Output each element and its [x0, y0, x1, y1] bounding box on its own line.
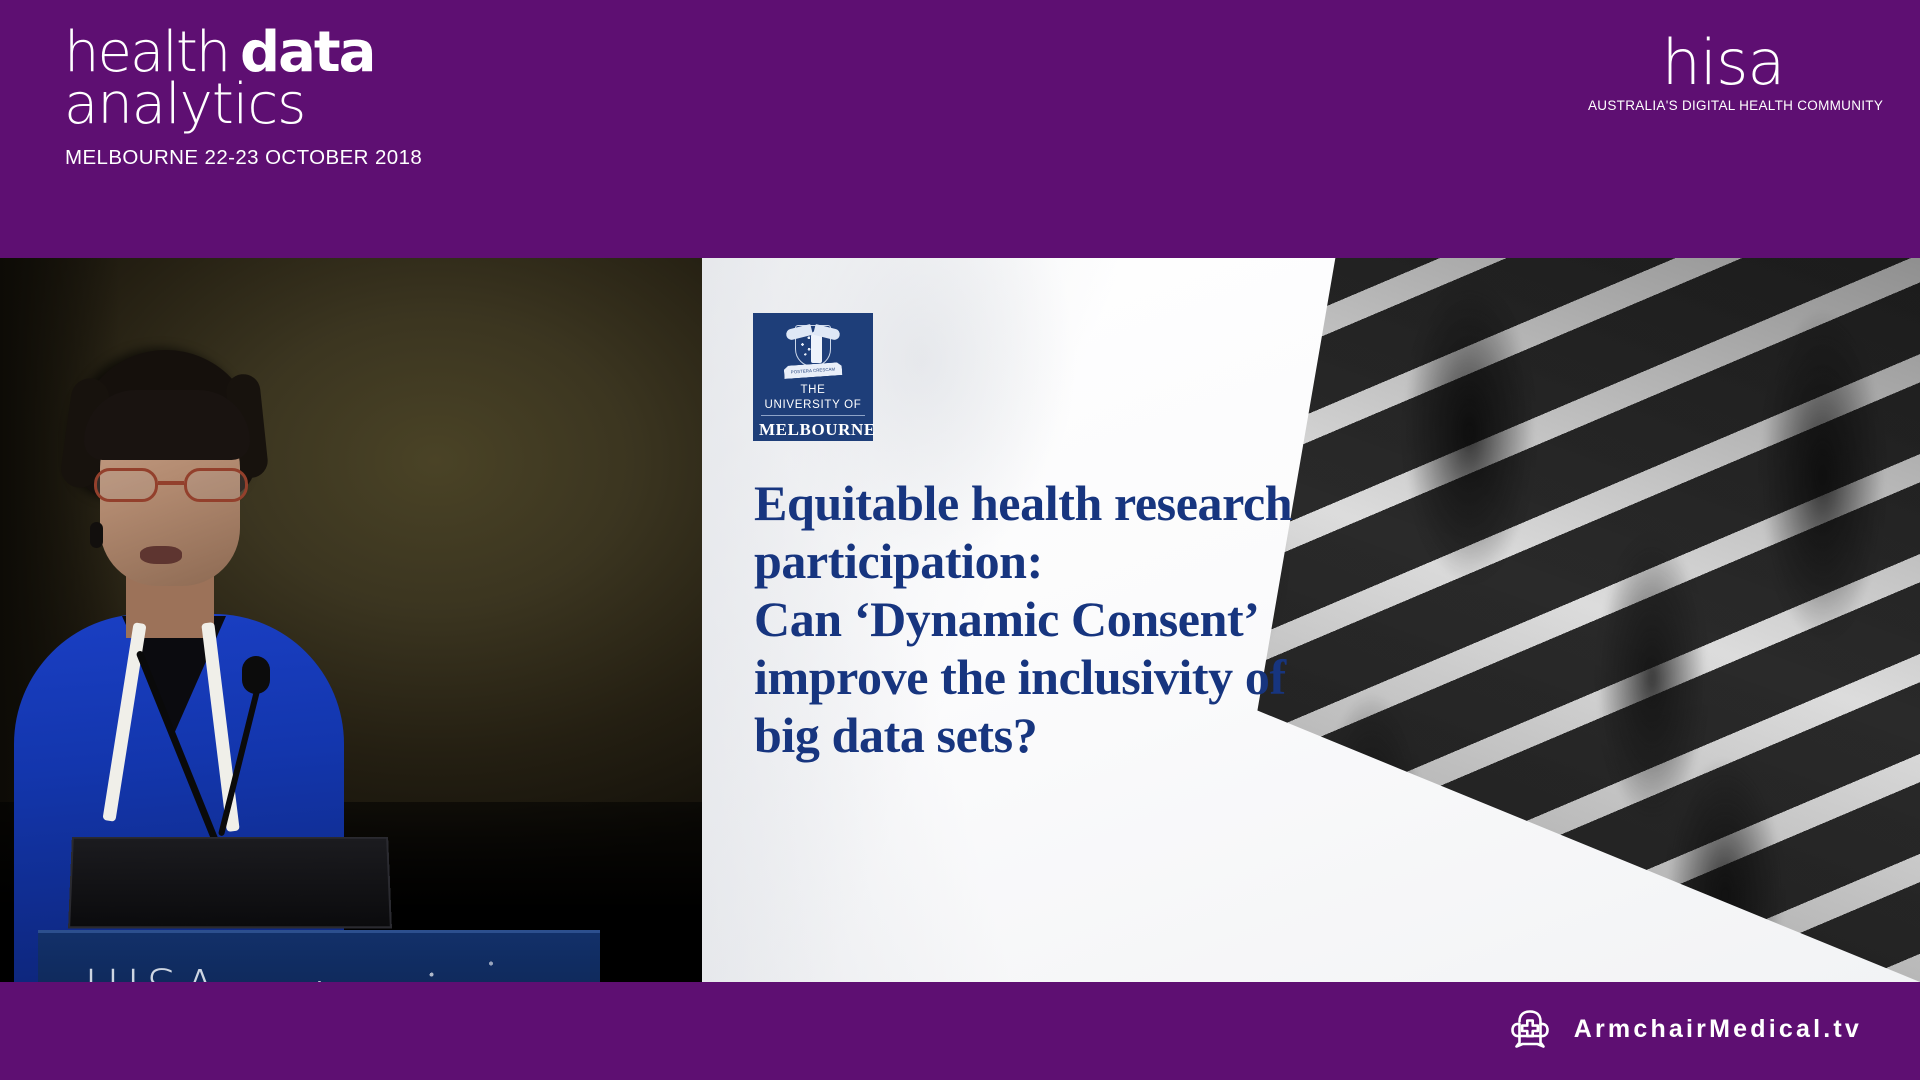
unimelb-line-1: THE UNIVERSITY OF — [761, 383, 865, 416]
presentation-recording-frame: health data analytics MELBOURNE 22-23 OC… — [0, 0, 1920, 1080]
speaker-glasses-icon — [94, 468, 248, 502]
glasses-right-lens — [184, 468, 248, 502]
speaker-fringe — [84, 390, 250, 460]
podium-hisa-logo: HISA AUSTRALIA'S DIGITAL HEALTH COMMUNIT… — [84, 963, 348, 982]
podium-sign: HISA AUSTRALIA'S DIGITAL HEALTH COMMUNIT… — [38, 930, 600, 982]
speaker-earring — [90, 522, 103, 548]
health-data-analytics-logo: health data analytics MELBOURNE 22-23 OC… — [62, 14, 392, 159]
podium-laptop — [68, 837, 392, 929]
podium-hisa-wordmark: HISA — [84, 963, 348, 982]
content-area: HISA AUSTRALIA'S DIGITAL HEALTH COMMUNIT… — [0, 258, 1920, 982]
glasses-left-lens — [94, 468, 158, 502]
hisa-tagline: AUSTRALIA'S DIGITAL HEALTH COMMUNITY — [1588, 98, 1858, 113]
slide-title-line-4: improve the inclusivity of — [754, 648, 1414, 706]
armchair-medical-branding[interactable]: ArmchairMedical.tv — [1508, 1008, 1862, 1050]
unimelb-line-2: MELBOURNE — [759, 419, 867, 441]
presentation-slide-pane[interactable]: POSTERA CRESCAM LAUDE THE UNIVERSITY OF … — [702, 258, 1920, 982]
slide-title: Equitable health research participation:… — [754, 474, 1414, 764]
glasses-bridge — [158, 481, 184, 485]
speaker-video-pane[interactable]: HISA AUSTRALIA'S DIGITAL HEALTH COMMUNIT… — [0, 258, 702, 982]
speaker-mouth — [140, 546, 182, 564]
microphone-head — [242, 656, 270, 694]
unimelb-crest-icon: POSTERA CRESCAM LAUDE — [784, 323, 842, 381]
slide-title-line-3: Can ‘Dynamic Consent’ — [754, 590, 1414, 648]
hisa-wordmark: hisa — [1588, 26, 1858, 100]
armchair-medical-wordmark: ArmchairMedical.tv — [1574, 1015, 1862, 1044]
armchair-medical-cross-icon — [1508, 1008, 1552, 1050]
crest-motto-ribbon: POSTERA CRESCAM LAUDE — [784, 362, 843, 379]
slide-title-line-5: big data sets? — [754, 706, 1414, 764]
slide-title-line-1: Equitable health research — [754, 474, 1414, 532]
university-of-melbourne-logo: POSTERA CRESCAM LAUDE THE UNIVERSITY OF … — [753, 313, 873, 441]
event-date-location: MELBOURNE 22-23 OCTOBER 2018 — [65, 146, 422, 170]
hisa-logo: hisa AUSTRALIA'S DIGITAL HEALTH COMMUNIT… — [1588, 26, 1858, 126]
header-bar: health data analytics MELBOURNE 22-23 OC… — [0, 0, 1920, 258]
logo-word-analytics: analytics — [64, 72, 305, 137]
slide-title-line-2: participation: — [754, 532, 1414, 590]
footer-bar: ArmchairMedical.tv — [0, 982, 1920, 1080]
